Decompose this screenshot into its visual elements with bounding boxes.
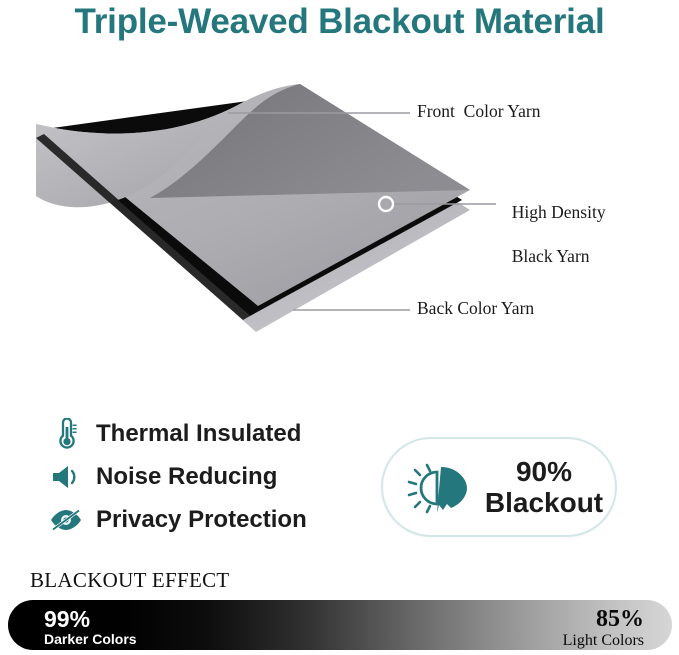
feature-privacy-protection: Privacy Protection (48, 498, 368, 541)
thermometer-icon (48, 416, 84, 452)
feature-noise-reducing: Noise Reducing (48, 455, 368, 498)
feature-thermal-insulated: Thermal Insulated (48, 412, 368, 455)
blackout-badge: 90% Blackout (381, 437, 617, 537)
label-front-color-yarn: Front Color Yarn (417, 101, 541, 123)
label-back-color-yarn: Back Color Yarn (417, 298, 534, 320)
label-high-density-line1: High Density (512, 202, 606, 222)
light-colors-percent: 85% (563, 606, 644, 632)
feature-label-noise-reducing: Noise Reducing (96, 463, 277, 491)
sun-behind-curtain-icon (397, 452, 481, 522)
feature-label-thermal-insulated: Thermal Insulated (96, 420, 301, 448)
eye-off-icon (48, 502, 84, 538)
light-colors-caption: Light Colors (563, 632, 644, 650)
darker-colors-stat: 99% Darker Colors (44, 607, 137, 647)
blackout-word: Blackout (481, 487, 607, 518)
light-colors-stat: 85% Light Colors (563, 606, 644, 650)
blackout-effect-gradient-bar: 99% Darker Colors 85% Light Colors (8, 600, 672, 650)
speaker-icon (48, 459, 84, 495)
feature-label-privacy-protection: Privacy Protection (96, 506, 307, 534)
blackout-percent: 90% (481, 456, 607, 487)
darker-colors-caption: Darker Colors (44, 632, 137, 647)
feature-list: Thermal Insulated Noise Reducing Privacy… (48, 412, 368, 541)
label-high-density-line2: Black Yarn (512, 246, 590, 266)
label-high-density-black-yarn: High Density Black Yarn (503, 180, 606, 268)
darker-colors-percent: 99% (44, 607, 137, 632)
page-title: Triple-Weaved Blackout Material (0, 2, 679, 42)
blackout-badge-text: 90% Blackout (481, 456, 615, 519)
blackout-effect-heading: BLACKOUT EFFECT (30, 568, 230, 593)
